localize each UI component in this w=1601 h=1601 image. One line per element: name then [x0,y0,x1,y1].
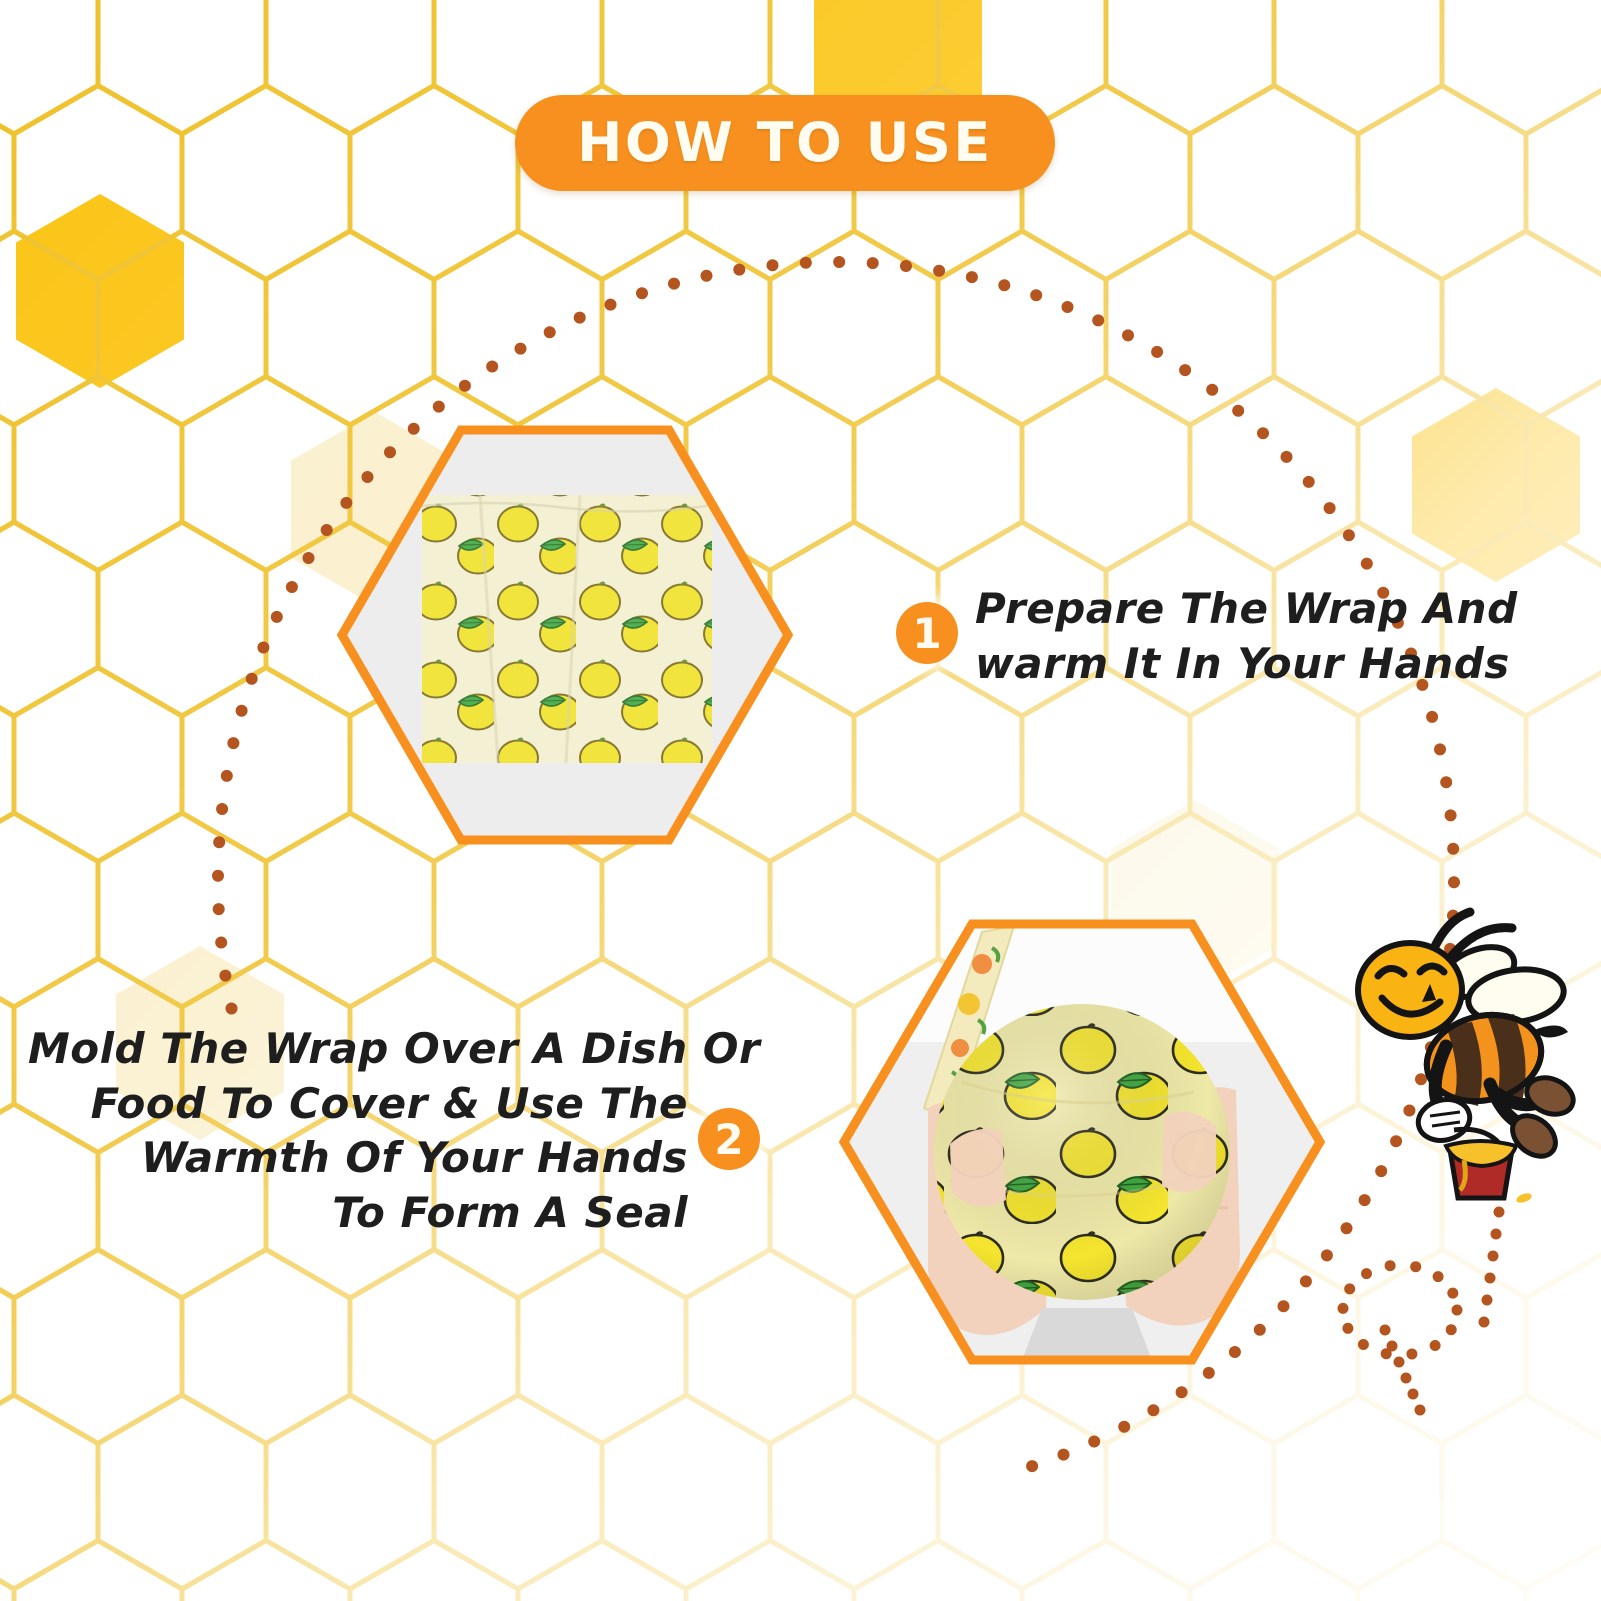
step-1-badge: 1 [896,602,958,664]
infographic-canvas: HOW TO USE [0,0,1601,1601]
step-2-badge: 2 [698,1108,760,1170]
step-1-caption-line-2: warm It In Your Hands [975,637,1495,692]
step-2-caption-line-3: Warmth Of Your Hands [28,1131,688,1186]
page-title: HOW TO USE [577,116,993,170]
step-2-caption-line-2: Food To Cover & Use The [28,1077,688,1132]
bee-flight-dotted-path [0,0,1601,1601]
step-1-caption: Prepare The Wrap And warm It In Your Han… [975,582,1495,691]
step-2-number: 2 [714,1115,743,1164]
step-2-caption-line-1: Mold The Wrap Over A Dish Or [28,1022,688,1077]
step-1-photo-hexagon [330,420,800,850]
how-to-use-banner: HOW TO USE [515,95,1055,191]
step-1-number: 1 [912,609,941,658]
step-2-caption: Mold The Wrap Over A Dish Or Food To Cov… [28,1022,688,1240]
cartoon-bee-with-honey-pot-icon [1338,898,1588,1208]
step-2-photo-hexagon [832,912,1332,1372]
step-2-caption-line-4: To Form A Seal [28,1186,688,1241]
step-1-caption-line-1: Prepare The Wrap And [975,582,1495,637]
